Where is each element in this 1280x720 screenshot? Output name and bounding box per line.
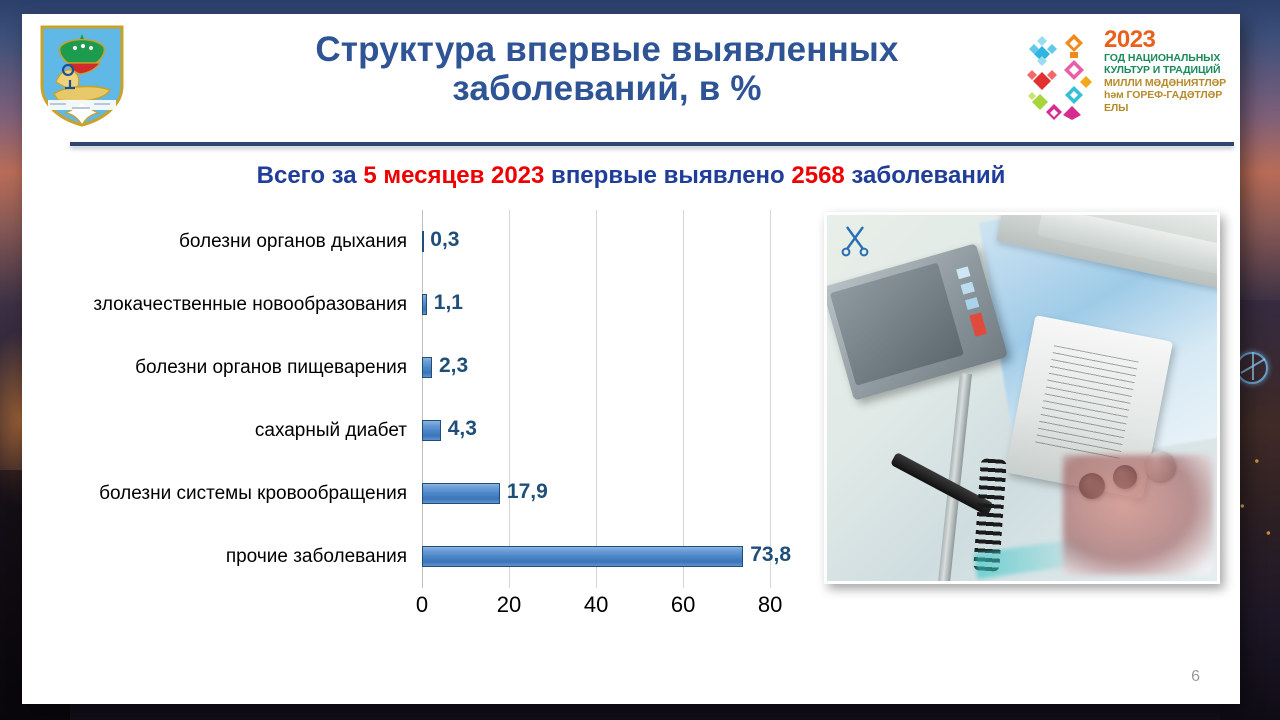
summary-subtitle: Всего за 5 месяцев 2023 впервые выявлено… [22, 162, 1240, 190]
bar [422, 546, 743, 567]
subtitle-highlight-count: 2568 [791, 162, 844, 189]
gridline [509, 210, 510, 588]
category-label: злокачественные новообразования [62, 294, 407, 316]
ornament-icon [1024, 32, 1102, 120]
bar-value-label: 4,3 [448, 417, 477, 441]
gridline [683, 210, 684, 588]
category-axis-labels: болезни органов дыханиязлокачественные н… [62, 210, 407, 588]
plot-area: 0,31,12,34,317,973,8 [422, 210, 805, 588]
scissors-icon [841, 223, 875, 257]
photo-blurred-person [1063, 455, 1213, 575]
bar [422, 231, 424, 252]
bar-value-label: 17,9 [507, 480, 548, 504]
value-axis-tick: 60 [671, 592, 695, 618]
category-label: болезни органов пищеварения [62, 357, 407, 379]
bar-value-label: 1,1 [434, 291, 463, 315]
logo-line-3: МИЛЛИ МӘДӘНИЯТЛӘР [1104, 77, 1232, 89]
page-number: 6 [1191, 668, 1200, 686]
photo-monitor-indicators [956, 266, 987, 337]
category-label: прочие заболевания [62, 546, 407, 568]
logo-year: 2023 [1104, 28, 1232, 52]
bar-chart: болезни органов дыханиязлокачественные н… [62, 210, 852, 640]
header-divider [70, 142, 1234, 146]
slide-card: Структура впервые выявленных заболеваний… [22, 14, 1240, 704]
value-axis-tick: 20 [497, 592, 521, 618]
photo-monitor-screen [830, 263, 964, 386]
subtitle-part-3: заболеваний [845, 162, 1006, 189]
coat-of-arms-icon [38, 24, 126, 128]
category-label: болезни системы кровообращения [62, 483, 407, 505]
gridline [770, 210, 771, 588]
bar [422, 483, 500, 504]
bar [422, 420, 441, 441]
value-axis-tick: 0 [416, 592, 428, 618]
bar-value-label: 73,8 [750, 543, 791, 567]
gridline [422, 210, 423, 588]
bar [422, 357, 432, 378]
illustration-photo [824, 212, 1220, 584]
value-axis: 020406080 [422, 592, 805, 622]
value-axis-tick: 40 [584, 592, 608, 618]
subtitle-part-1: Всего за [257, 162, 364, 189]
year-2023-logo: 2023 ГОД НАЦИОНАЛЬНЫХ КУЛЬТУР И ТРАДИЦИЙ… [1022, 26, 1232, 126]
subtitle-highlight-period: 5 месяцев 2023 [363, 162, 544, 189]
value-axis-tick: 80 [758, 592, 782, 618]
bar [422, 294, 427, 315]
category-label: сахарный диабет [62, 420, 407, 442]
logo-line-2: КУЛЬТУР И ТРАДИЦИЙ [1104, 64, 1232, 76]
bar-value-label: 0,3 [430, 228, 459, 252]
logo-line-1: ГОД НАЦИОНАЛЬНЫХ [1104, 52, 1232, 64]
logo-line-4: һәм ГОРЕФ-ГАДӘТЛӘР ЕЛЫ [1104, 89, 1232, 114]
gridline [596, 210, 597, 588]
bar-value-label: 2,3 [439, 354, 468, 378]
page-title: Структура впервые выявленных заболеваний… [197, 30, 1017, 108]
subtitle-part-2: впервые выявлено [544, 162, 791, 189]
category-label: болезни органов дыхания [62, 231, 407, 253]
photo-flowmeter-scale [1034, 345, 1138, 463]
